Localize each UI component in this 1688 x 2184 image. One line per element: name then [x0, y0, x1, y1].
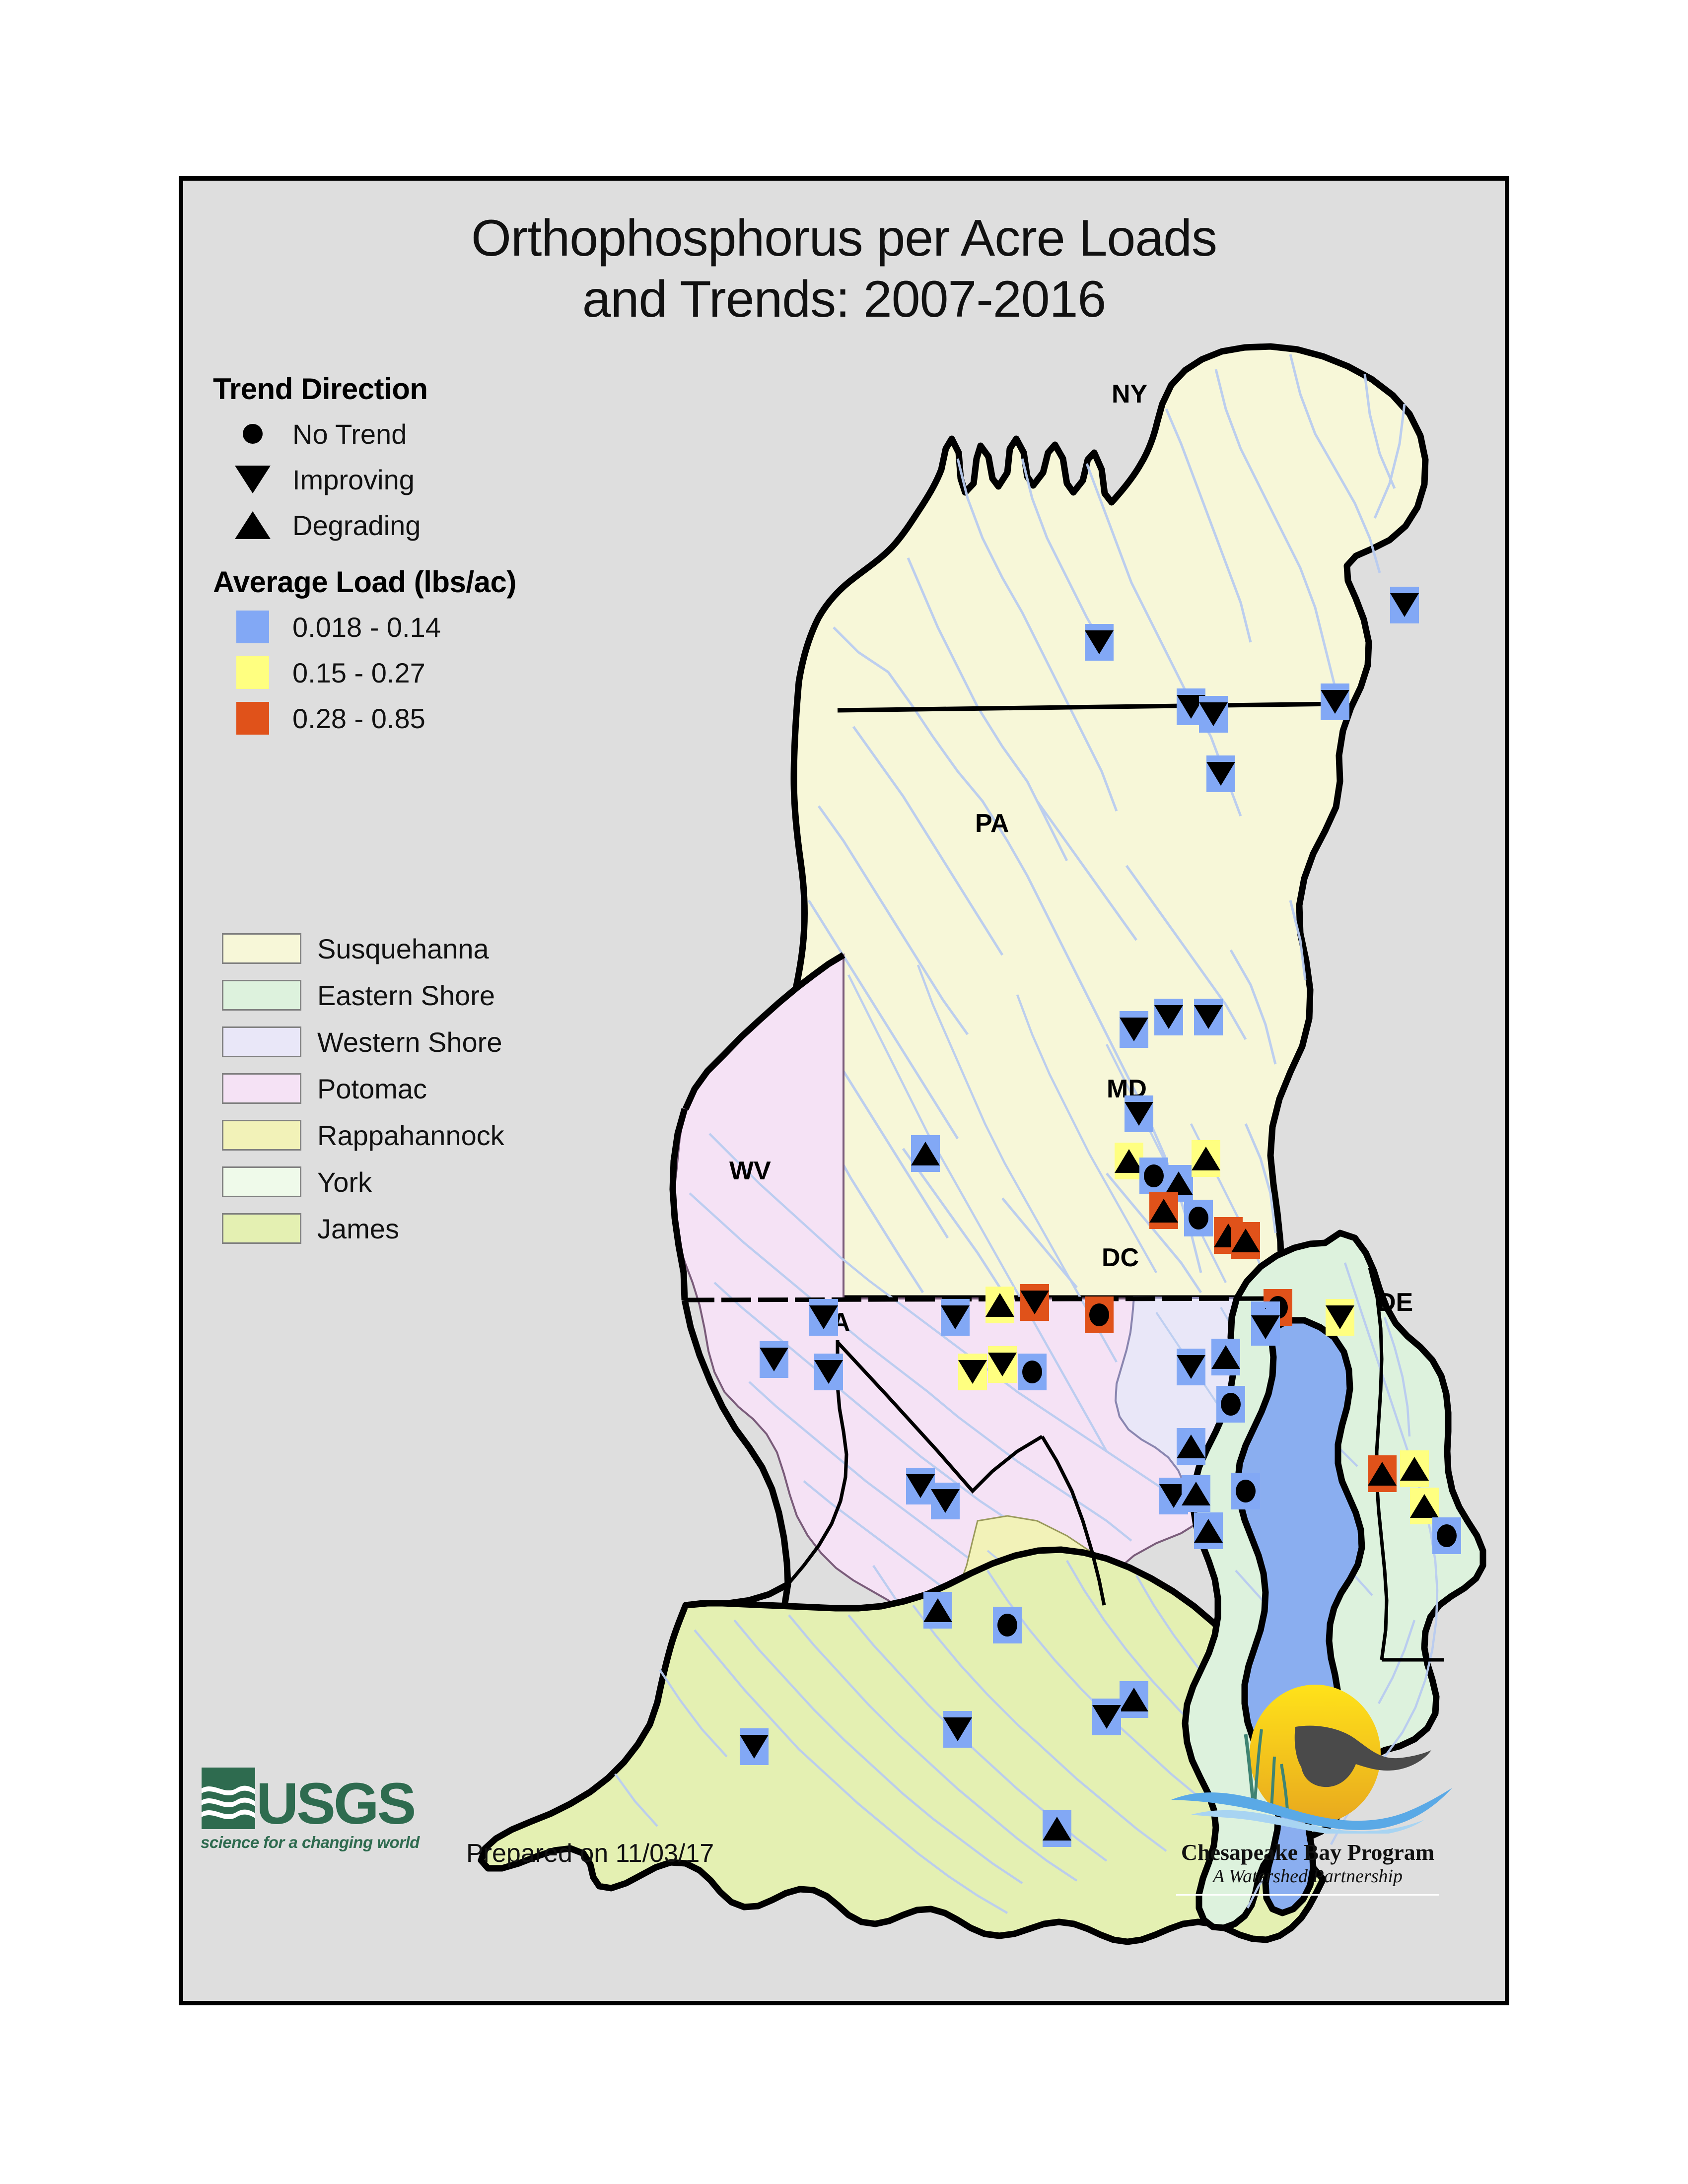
triangle-down-icon	[1251, 1315, 1280, 1339]
monitoring-site-marker[interactable]	[988, 1346, 1017, 1383]
legend-load-heading: Average Load (lbs/ac)	[213, 565, 600, 599]
monitoring-site-marker[interactable]	[943, 1711, 972, 1748]
triangle-up-icon	[1410, 1494, 1439, 1518]
basin-legend-panel: SusquehannaEastern ShoreWestern ShorePot…	[222, 925, 669, 1252]
monitoring-site-marker[interactable]	[809, 1299, 838, 1336]
monitoring-site-marker[interactable]	[814, 1354, 843, 1390]
triangle-up-icon	[213, 511, 292, 539]
circle-icon	[1022, 1361, 1042, 1383]
monitoring-site-marker[interactable]	[985, 1287, 1014, 1323]
monitoring-site-marker[interactable]	[1125, 1095, 1153, 1132]
triangle-down-icon	[1177, 1355, 1205, 1379]
state-label-pa: PA	[975, 809, 1009, 838]
monitoring-site-marker[interactable]	[1149, 1192, 1178, 1229]
triangle-down-icon	[941, 1305, 970, 1329]
load-swatch-low	[213, 611, 292, 643]
circle-icon	[213, 424, 292, 444]
basin-label: Eastern Shore	[317, 979, 495, 1012]
monitoring-site-marker[interactable]	[1020, 1284, 1049, 1321]
circle-icon	[1221, 1393, 1241, 1416]
monitoring-site-marker[interactable]	[1199, 696, 1228, 733]
monitoring-site-marker[interactable]	[1177, 1349, 1205, 1385]
cbp-divider	[1176, 1894, 1439, 1896]
basin-label: Potomac	[317, 1073, 427, 1105]
load-swatch-high	[213, 702, 292, 735]
basin-label: York	[317, 1166, 372, 1198]
legend-label-improving: Improving	[292, 464, 415, 496]
basin-label: James	[317, 1213, 399, 1245]
triangle-down-icon	[1092, 1705, 1121, 1729]
triangle-down-icon	[814, 1360, 843, 1384]
triangle-up-icon	[1211, 1345, 1240, 1369]
triangle-down-icon	[1199, 702, 1228, 726]
legend-label-load-high: 0.28 - 0.85	[292, 702, 425, 735]
triangle-up-icon	[1400, 1457, 1429, 1481]
cbp-name: Chesapeake Bay Program	[1156, 1839, 1459, 1865]
triangle-down-icon	[1321, 690, 1349, 714]
basin-legend-item[interactable]: James	[222, 1205, 669, 1252]
triangle-up-icon	[1194, 1519, 1223, 1543]
basin-color-swatch	[222, 1073, 301, 1104]
state-label-dc: DC	[1102, 1243, 1139, 1273]
monitoring-site-marker[interactable]	[993, 1607, 1022, 1643]
triangle-up-icon	[1231, 1228, 1260, 1252]
triangle-down-icon	[1390, 593, 1419, 617]
map-poster-frame: Orthophosphorus per Acre Loads and Trend…	[179, 176, 1509, 2005]
monitoring-site-marker[interactable]	[1194, 999, 1223, 1035]
basin-label: Susquehanna	[317, 933, 489, 965]
triangle-up-icon	[911, 1142, 940, 1165]
basin-color-swatch	[222, 1120, 301, 1151]
legend-label-load-low: 0.018 - 0.14	[292, 611, 441, 643]
triangle-down-icon	[1120, 1018, 1148, 1041]
circle-icon	[1144, 1164, 1164, 1187]
monitoring-site-marker[interactable]	[1154, 999, 1183, 1035]
triangle-down-icon	[1326, 1305, 1354, 1329]
triangle-down-icon	[1206, 762, 1235, 786]
triangle-up-icon	[923, 1598, 952, 1622]
monitoring-site-marker[interactable]	[1120, 1011, 1148, 1048]
basin-label: Western Shore	[317, 1026, 502, 1058]
triangle-up-icon	[1368, 1462, 1397, 1486]
triangle-down-icon	[809, 1305, 838, 1329]
legend-item-improving[interactable]: Improving	[213, 457, 600, 502]
monitoring-site-marker[interactable]	[1231, 1222, 1260, 1259]
monitoring-site-marker[interactable]	[1326, 1299, 1354, 1336]
legend-label-load-mid: 0.15 - 0.27	[292, 657, 425, 689]
legend-panel: Trend Direction No Trend Improving Degra…	[213, 372, 600, 741]
legend-item-load-low[interactable]: 0.018 - 0.14	[213, 604, 600, 650]
monitoring-site-marker[interactable]	[1251, 1309, 1280, 1346]
legend-item-no-trend[interactable]: No Trend	[213, 411, 600, 457]
monitoring-site-marker[interactable]	[1321, 683, 1349, 720]
basin-color-swatch	[222, 933, 301, 964]
monitoring-site-marker[interactable]	[1211, 1339, 1240, 1375]
monitoring-site-marker[interactable]	[923, 1592, 952, 1629]
monitoring-site-marker[interactable]	[740, 1728, 769, 1765]
monitoring-site-marker[interactable]	[1216, 1386, 1245, 1423]
monitoring-site-marker[interactable]	[1192, 1140, 1220, 1177]
circle-icon	[1236, 1480, 1256, 1502]
monitoring-site-marker[interactable]	[1120, 1681, 1148, 1718]
monitoring-site-marker[interactable]	[1043, 1810, 1071, 1847]
circle-icon	[1089, 1303, 1109, 1326]
circle-icon	[997, 1614, 1017, 1637]
triangle-up-icon	[1192, 1147, 1220, 1170]
monitoring-site-marker[interactable]	[1085, 1297, 1114, 1333]
triangle-down-icon	[1125, 1102, 1153, 1126]
monitoring-site-marker[interactable]	[1432, 1517, 1461, 1554]
legend-item-load-mid[interactable]: 0.15 - 0.27	[213, 650, 600, 695]
chesapeake-bay-program-logo: Chesapeake Bay Program A Watershed Partn…	[1156, 1685, 1459, 1896]
triangle-down-icon	[740, 1735, 769, 1759]
circle-icon	[1189, 1207, 1208, 1229]
triangle-down-icon	[1085, 630, 1114, 654]
triangle-down-icon	[958, 1360, 987, 1384]
basin-susquehanna	[780, 346, 1426, 1298]
usgs-mark-icon	[201, 1767, 256, 1830]
cbp-subtitle: A Watershed Partnership	[1156, 1865, 1459, 1887]
basin-legend-item[interactable]: Rappahannock	[222, 1112, 669, 1159]
triangle-down-icon	[943, 1717, 972, 1741]
legend-item-load-high[interactable]: 0.28 - 0.85	[213, 695, 600, 741]
monitoring-site-marker[interactable]	[1194, 1512, 1223, 1549]
load-swatch-mid	[213, 656, 292, 689]
monitoring-site-marker[interactable]	[911, 1135, 940, 1172]
state-label-de: DE	[1377, 1288, 1413, 1317]
usgs-wordmark: USGS	[256, 1777, 414, 1830]
basin-color-swatch	[222, 1213, 301, 1244]
basin-legend-item[interactable]: Susquehanna	[222, 925, 669, 972]
monitoring-site-marker[interactable]	[1085, 624, 1114, 661]
monitoring-site-marker[interactable]	[958, 1354, 987, 1390]
monitoring-site-marker[interactable]	[1231, 1473, 1260, 1509]
usgs-tagline: science for a changing world	[201, 1833, 459, 1852]
usgs-logo: USGS science for a changing world	[201, 1767, 459, 1852]
monitoring-site-marker[interactable]	[1368, 1455, 1397, 1492]
monitoring-site-marker[interactable]	[1092, 1699, 1121, 1735]
legend-label-no-trend: No Trend	[292, 418, 407, 450]
basin-label: Rappahannock	[317, 1119, 504, 1152]
triangle-down-icon	[1154, 1005, 1183, 1029]
basin-color-swatch	[222, 1166, 301, 1197]
monitoring-site-marker[interactable]	[1400, 1450, 1429, 1487]
basin-legend-item[interactable]: Eastern Shore	[222, 972, 669, 1019]
monitoring-site-marker[interactable]	[1018, 1354, 1047, 1390]
prepared-date: Prepared on 11/03/17	[466, 1839, 714, 1868]
triangle-down-icon	[1020, 1291, 1049, 1314]
triangle-up-icon	[1182, 1482, 1210, 1505]
monitoring-site-marker[interactable]	[941, 1299, 970, 1336]
monitoring-site-marker[interactable]	[1182, 1475, 1210, 1512]
basin-legend-item[interactable]: York	[222, 1159, 669, 1205]
legend-item-degrading[interactable]: Degrading	[213, 502, 600, 548]
state-label-wv: WV	[729, 1156, 771, 1186]
monitoring-site-marker[interactable]	[1390, 587, 1419, 623]
triangle-up-icon	[1149, 1199, 1178, 1223]
legend-label-degrading: Degrading	[292, 509, 421, 542]
triangle-up-icon	[1164, 1171, 1193, 1195]
monitoring-site-marker[interactable]	[760, 1341, 788, 1378]
basin-legend-item[interactable]: Potomac	[222, 1065, 669, 1112]
triangle-down-icon	[931, 1489, 960, 1513]
basin-color-swatch	[222, 1026, 301, 1057]
monitoring-site-marker[interactable]	[1177, 1428, 1205, 1465]
basin-color-swatch	[222, 980, 301, 1011]
triangle-down-icon	[988, 1353, 1017, 1376]
legend-trend-heading: Trend Direction	[213, 372, 600, 406]
cbp-emblem-icon	[1156, 1685, 1459, 1834]
monitoring-site-marker[interactable]	[931, 1483, 960, 1519]
triangle-down-icon	[760, 1348, 788, 1371]
monitoring-site-marker[interactable]	[1206, 755, 1235, 792]
basin-legend-item[interactable]: Western Shore	[222, 1019, 669, 1065]
triangle-up-icon	[1177, 1434, 1205, 1458]
state-label-ny: NY	[1112, 379, 1147, 409]
triangle-up-icon	[985, 1293, 1014, 1317]
triangle-up-icon	[1120, 1688, 1148, 1711]
circle-icon	[1437, 1524, 1457, 1547]
triangle-down-icon	[1194, 1005, 1223, 1029]
triangle-down-icon	[213, 466, 292, 493]
triangle-up-icon	[1043, 1817, 1071, 1841]
monitoring-site-marker[interactable]	[1184, 1200, 1213, 1236]
